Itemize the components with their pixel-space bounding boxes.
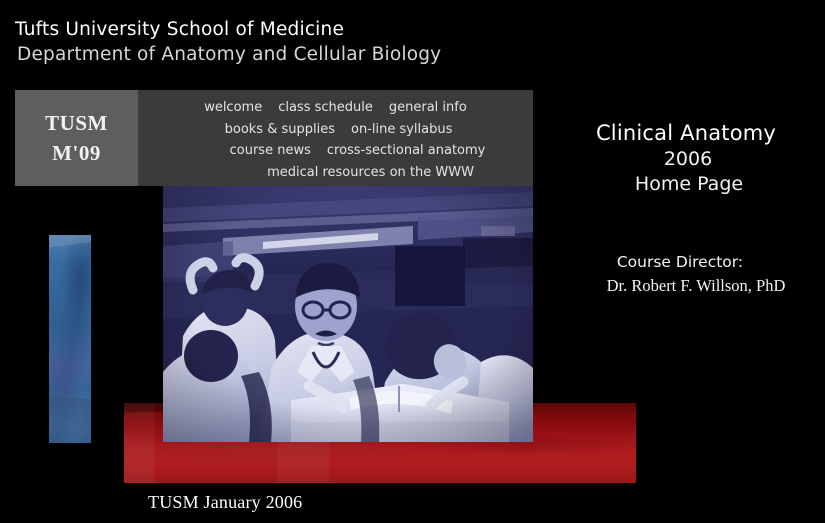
course-director-label: Course Director: <box>556 250 804 274</box>
course-director-block: Course Director: Dr. Robert F. Willson, … <box>556 250 818 298</box>
department-name: Department of Anatomy and Cellular Biolo… <box>17 42 535 68</box>
tusm-abbreviation: TUSM <box>45 108 108 138</box>
nav-row-3: course news cross-sectional anatomy <box>138 140 533 162</box>
page-header: Tufts University School of Medicine Depa… <box>15 18 535 68</box>
blue-decorative-strip <box>49 235 91 443</box>
institution-name: Tufts University School of Medicine <box>15 18 535 42</box>
course-year: 2006 <box>560 147 816 172</box>
anatomy-lab-photo-graphic <box>163 186 533 442</box>
page-footer-caption: TUSM January 2006 <box>148 492 302 513</box>
nav-row-4: medical resources on the WWW <box>138 162 533 184</box>
page-subtitle: Home Page <box>562 172 816 197</box>
nav-row-2: books & supplies on-line syllabus <box>138 119 533 141</box>
nav-link-cross-sectional-anatomy[interactable]: cross-sectional anatomy <box>327 140 486 162</box>
course-title: Clinical Anatomy <box>556 120 816 147</box>
tusm-class-year: M'09 <box>52 138 101 168</box>
nav-link-on-line-syllabus[interactable]: on-line syllabus <box>351 119 452 141</box>
nav-row-1: welcome class schedule general info <box>138 97 533 119</box>
anatomy-lab-photo <box>163 186 533 442</box>
site-navigation-panel: welcome class schedule general info book… <box>138 90 533 186</box>
nav-link-medical-resources-www[interactable]: medical resources on the WWW <box>267 162 474 184</box>
nav-link-general-info[interactable]: general info <box>389 97 467 119</box>
course-director-name: Dr. Robert F. Willson, PhD <box>574 274 818 298</box>
page-title-block: Clinical Anatomy 2006 Home Page <box>556 120 816 197</box>
nav-link-course-news[interactable]: course news <box>230 140 311 162</box>
tusm-class-logo-block: TUSM M'09 <box>15 90 138 186</box>
nav-link-welcome[interactable]: welcome <box>204 97 262 119</box>
nav-link-class-schedule[interactable]: class schedule <box>278 97 373 119</box>
nav-link-books-and-supplies[interactable]: books & supplies <box>225 119 335 141</box>
